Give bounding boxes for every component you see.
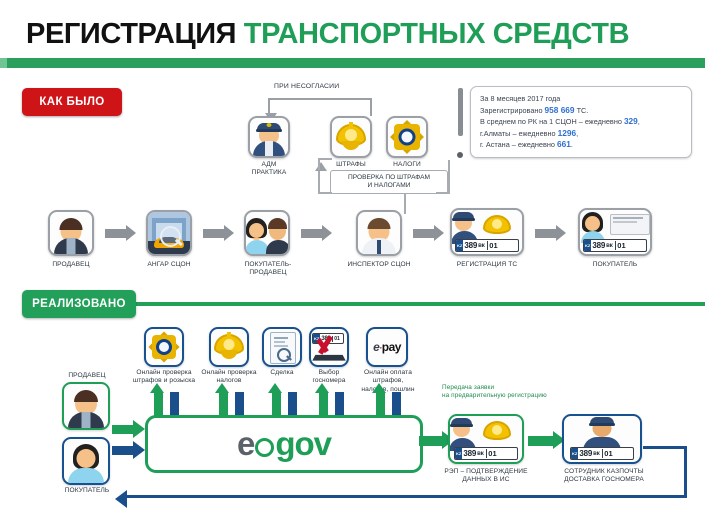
connector-check-right-bottom	[436, 192, 450, 194]
node-adm-practice[interactable]	[248, 116, 290, 158]
connector-disagreement-top	[268, 98, 372, 100]
node-label-before-inspector: ИНСПЕКТОР СЦОН	[344, 261, 414, 269]
plate-number: 389	[579, 449, 592, 458]
node-before-inspector[interactable]	[356, 210, 402, 256]
stats-line-2-suffix: ТС.	[577, 106, 589, 115]
arrow-up-service-1	[154, 392, 163, 416]
egov-logo-e: e	[237, 425, 254, 463]
node-label-after-buyer: ПОКУПАТЕЛЬ	[52, 487, 122, 495]
plate-region: 01	[602, 449, 613, 458]
document-search-icon	[270, 332, 294, 362]
woman-avatar-icon	[64, 439, 108, 483]
connector-checkbox-to-inspector	[404, 194, 406, 210]
page-title: РЕГИСТРАЦИЯ ТРАНСПОРТНЫХ СРЕДСТВ	[26, 18, 629, 51]
node-before-buyer[interactable]: KZ 389 вк 01	[578, 208, 652, 256]
section-divider-after	[120, 302, 705, 306]
node-label-adm-practice: АДМ ПРАКТИКА	[238, 161, 300, 178]
node-label-after-seller: ПРОДАВЕЦ	[52, 372, 122, 380]
service-tile-taxes-check[interactable]	[209, 327, 249, 367]
stats-avg-value: 329	[624, 116, 638, 126]
page-title-part2: ТРАНСПОРТНЫХ СРЕДСТВ	[244, 18, 629, 50]
node-label-before-buyer-seller: ПОКУПАТЕЛЬ-ПРОДАВЕЦ	[228, 261, 308, 278]
police-avatar-icon	[250, 118, 288, 156]
return-path-vertical	[684, 446, 687, 498]
arrow-before-4	[413, 229, 435, 238]
node-fines[interactable]	[330, 116, 372, 158]
transfer-request-note: Передача заявки на предварительную регис…	[442, 384, 592, 401]
node-taxes[interactable]	[386, 116, 428, 158]
plate-region: 01	[487, 241, 498, 250]
arrow-down-service-1	[170, 392, 179, 416]
arrow-down-service-4	[335, 392, 344, 416]
arrow-up-service-2	[219, 392, 228, 416]
plate-number: 389	[463, 449, 476, 458]
man-avatar-icon	[50, 212, 92, 254]
license-plate: KZ 389 вк 01	[455, 239, 519, 252]
section-badge-before: КАК БЫЛО	[22, 88, 122, 116]
node-after-buyer[interactable]	[62, 437, 110, 485]
police-emblem-plate-icon: KZ 389 вк 01	[452, 210, 522, 254]
arrow-down-service-3	[288, 392, 297, 416]
stats-line-1: За 8 месяцев 2017 года	[480, 93, 682, 105]
stats-line-2-prefix: Зарегистрировано	[480, 106, 543, 115]
connector-fines-up-h	[318, 158, 332, 160]
service-label-fines-check: Онлайн проверка штрафов и розыска	[131, 369, 197, 386]
stats-line-4-prefix: г.Алматы – ежедневно	[480, 129, 556, 138]
plate-series: вк	[477, 451, 484, 457]
plate-region: 01	[332, 336, 340, 342]
plate-country-code: KZ	[456, 240, 463, 251]
police-emblem-plate-icon: KZ 389 вк 01	[450, 416, 522, 462]
arrow-up-service-5	[376, 392, 385, 416]
return-path-enter	[643, 446, 687, 449]
egov-logo-gov: gov	[275, 425, 331, 463]
node-kazpost-delivery[interactable]: KZ 389 вк 01	[562, 414, 642, 464]
police-badge-icon	[149, 332, 179, 362]
node-label-before-buyer: ПОКУПАТЕЛЬ	[580, 261, 650, 269]
node-label-rep: РЭП – ПОДТВЕРЖДЕНИЕ ДАННЫХ В ИС	[440, 468, 532, 485]
arrow-portal-to-rep	[419, 436, 443, 446]
garage-inspection-icon	[148, 212, 190, 254]
node-before-registration[interactable]: KZ 389 вк 01	[450, 208, 524, 256]
node-label-fines: ШТРАФЫ	[320, 161, 382, 169]
node-before-seller[interactable]	[48, 210, 94, 256]
stats-accent-bar	[458, 88, 463, 136]
plate-number: 389	[464, 241, 477, 250]
arrow-before-3	[301, 229, 323, 238]
plate-country-code: KZ	[584, 240, 591, 251]
license-plate: KZ 389 вк 01	[454, 447, 518, 460]
stats-accent-dot	[457, 152, 463, 158]
stats-line-2: Зарегистрировано 958 669 ТС.	[480, 105, 682, 117]
egov-portal-box[interactable]: e gov	[145, 415, 423, 473]
two-people-icon	[246, 212, 288, 254]
plate-number: 389	[592, 241, 605, 250]
courier-avatar-plate-icon: KZ 389 вк 01	[564, 416, 640, 462]
stats-line-3: В среднем по РК на 1 СЦОН – ежедневно 32…	[480, 116, 682, 128]
node-rep-confirmation[interactable]: KZ 389 вк 01	[448, 414, 524, 464]
plate-series: вк	[606, 243, 613, 249]
node-before-hangar[interactable]	[146, 210, 192, 256]
arrow-before-5	[535, 229, 557, 238]
service-label-epay: Онлайн оплата штрафов, налогов, пошлин	[351, 369, 425, 394]
arrow-buyer-to-portal	[112, 446, 134, 455]
epay-pay: pay	[382, 340, 401, 354]
arrow-seller-to-portal	[112, 425, 134, 434]
stats-astana-value: 661	[557, 139, 571, 149]
node-after-seller[interactable]	[62, 382, 110, 430]
plate-country-code: KZ	[571, 448, 578, 459]
arrow-before-2	[203, 229, 225, 238]
plate-checkmark-icon: KZ 389 01	[312, 332, 346, 362]
page-title-part1: РЕГИСТРАЦИЯ	[26, 18, 236, 50]
connector-disagreement-right	[370, 98, 372, 116]
arrow-before-1	[105, 229, 127, 238]
node-label-before-hangar: АНГАР СЦОН	[134, 261, 204, 269]
stats-line-5: г. Астана – ежедневно 661.	[480, 139, 682, 151]
service-tile-fines-check[interactable]	[144, 327, 184, 367]
license-plate: KZ 389 вк 01	[570, 447, 634, 460]
arrow-rep-to-kazpost	[528, 436, 554, 446]
node-label-taxes: НАЛОГИ	[376, 161, 438, 169]
epay-logo-icon: e·pay	[373, 340, 401, 354]
node-label-kazpost: СОТРУДНИК КАЗПОЧТЫ ДОСТАВКА ГОСНОМЕРА	[556, 468, 652, 485]
disagreement-label: ПРИ НЕСОГЛАСИИ	[274, 83, 339, 90]
header-divider	[0, 58, 705, 68]
woman-plate-icon: KZ 389 вк 01	[580, 210, 650, 254]
plate-region: 01	[615, 241, 626, 250]
stats-almaty-value: 1296	[558, 128, 576, 138]
emblem-gold-icon	[334, 121, 368, 153]
header-divider-cap	[0, 58, 7, 68]
plate-country-code: KZ	[455, 448, 462, 459]
inspector-avatar-icon	[358, 212, 400, 254]
arrow-up-service-3	[272, 392, 281, 416]
node-before-buyer-seller[interactable]	[244, 210, 290, 256]
service-tile-deal[interactable]	[262, 327, 302, 367]
stats-line-5-prefix: г. Астана – ежедневно	[480, 140, 555, 149]
check-fines-taxes-box: ПРОВЕРКА ПО ШТРАФАМ И НАЛОГАМИ	[330, 170, 448, 194]
arrow-down-service-2	[235, 392, 244, 416]
license-plate: KZ 389 вк 01	[583, 239, 647, 252]
connector-check-left	[318, 170, 320, 194]
man-avatar-icon	[64, 384, 108, 428]
egov-ring-icon	[255, 438, 274, 457]
arrow-up-service-4	[319, 392, 328, 416]
stats-registered-value: 958 669	[545, 105, 575, 115]
return-path-horizontal	[126, 495, 686, 498]
service-tile-epay[interactable]: e·pay	[366, 327, 408, 367]
stats-line-3-prefix: В среднем по РК на 1 СЦОН – ежедневно	[480, 117, 622, 126]
service-tile-plate-choice[interactable]: KZ 389 01	[309, 327, 349, 367]
section-badge-after: РЕАЛИЗОВАНО	[22, 290, 136, 318]
emblem-kazakhstan-icon	[213, 332, 245, 362]
plate-series: вк	[593, 451, 600, 457]
arrow-down-service-5	[392, 392, 401, 416]
statistics-box: За 8 месяцев 2017 года Зарегистрировано …	[470, 86, 692, 158]
plate-region: 01	[486, 449, 497, 458]
node-label-before-registration: РЕГИСТРАЦИЯ ТС	[452, 261, 522, 269]
infographic-root: РЕГИСТРАЦИЯ ТРАНСПОРТНЫХ СРЕДСТВ КАК БЫЛ…	[0, 0, 705, 529]
egov-logo: e gov	[237, 425, 331, 463]
connector-check-left-bottom	[318, 192, 332, 194]
connector-disagreement-down	[268, 98, 270, 114]
connector-check-right	[448, 160, 450, 194]
plate-series: вк	[478, 243, 485, 249]
police-badge-star-icon	[391, 121, 423, 153]
stats-line-4: г.Алматы – ежедневно 1296,	[480, 128, 682, 140]
node-label-before-seller: ПРОДАВЕЦ	[36, 261, 106, 269]
